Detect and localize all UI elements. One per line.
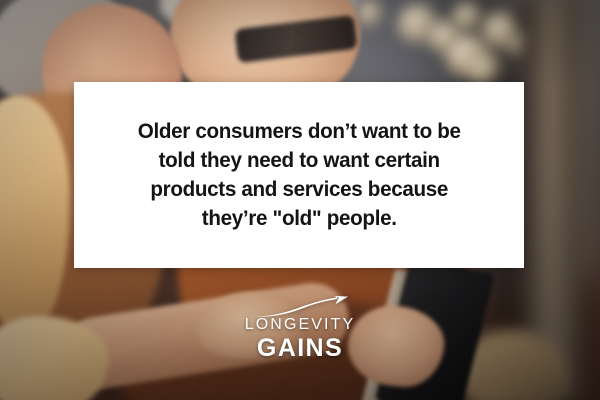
quote-line-3: products and services because — [150, 177, 448, 201]
quote-line-4: they’re "old" people. — [202, 206, 397, 230]
quote-line-1: Older consumers don’t want to be — [138, 119, 461, 143]
quote-card: Older consumers don’t want to be told th… — [74, 82, 524, 268]
quote-card-image: Older consumers don’t want to be told th… — [0, 0, 600, 400]
quote-line-2: told they need to want certain — [158, 148, 439, 172]
quote-text: Older consumers don’t want to be told th… — [113, 117, 486, 233]
